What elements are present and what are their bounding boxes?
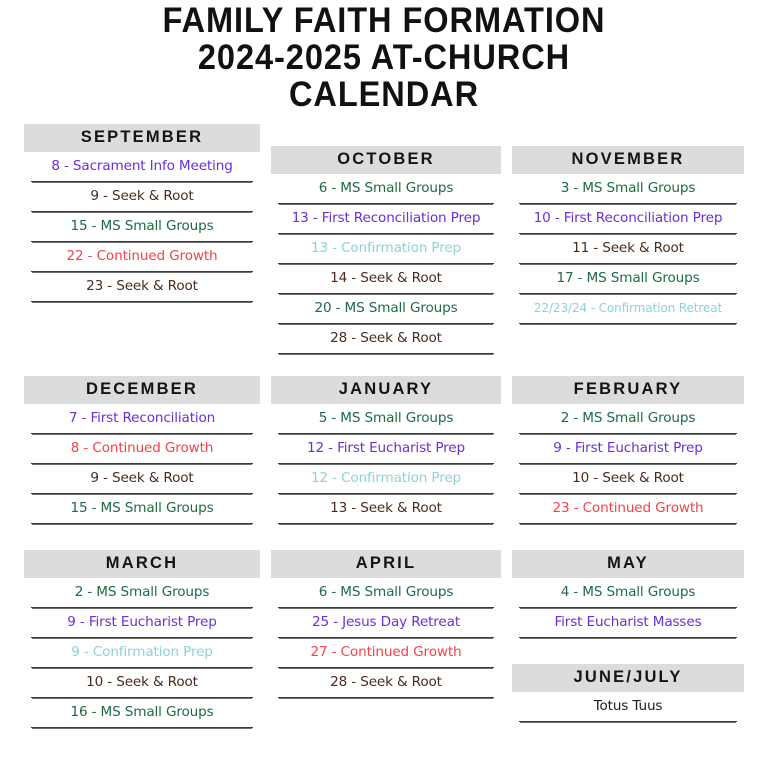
calendar-event: 6 - MS Small Groups	[278, 174, 494, 204]
calendar-event: 12 - Confirmation Prep	[278, 464, 494, 494]
calendar-event: Totus Tuus	[519, 692, 737, 722]
calendar-event: 9 - Confirmation Prep	[31, 638, 253, 668]
month-header-november: NOVEMBER	[512, 146, 744, 174]
calendar-event: 23 - Continued Growth	[519, 494, 737, 524]
calendar-event: 10 - Seek & Root	[31, 668, 253, 698]
month-block-march: MARCH 2 - MS Small Groups9 - First Eucha…	[24, 550, 260, 728]
month-header-october: OCTOBER	[271, 146, 501, 174]
calendar-event: 5 - MS Small Groups	[278, 404, 494, 434]
page-title-line-3: CALENDAR	[27, 76, 741, 113]
calendar-event: 28 - Seek & Root	[278, 324, 494, 354]
month-block-april: APRIL 6 - MS Small Groups25 - Jesus Day …	[271, 550, 501, 698]
month-block-december: DECEMBER 7 - First Reconciliation8 - Con…	[24, 376, 260, 524]
calendar-event: 4 - MS Small Groups	[519, 578, 737, 608]
calendar-event: 13 - Seek & Root	[278, 494, 494, 524]
event-list-september: 8 - Sacrament Info Meeting9 - Seek & Roo…	[24, 152, 260, 302]
calendar-event: 22/23/24 - Confirmation Retreat	[519, 294, 737, 324]
month-block-november: NOVEMBER 3 - MS Small Groups10 - First R…	[512, 146, 744, 324]
event-list-december: 7 - First Reconciliation8 - Continued Gr…	[24, 404, 260, 524]
page-title: FAMILY FAITH FORMATION 2024-2025 AT-CHUR…	[0, 0, 768, 113]
calendar-event: 13 - Confirmation Prep	[278, 234, 494, 264]
month-block-february: FEBRUARY 2 - MS Small Groups9 - First Eu…	[512, 376, 744, 524]
calendar-event: 13 - First Reconciliation Prep	[278, 204, 494, 234]
page-title-line-2: 2024-2025 AT-CHURCH	[27, 39, 741, 76]
event-list-june-july: Totus Tuus	[512, 692, 744, 722]
calendar-event: 2 - MS Small Groups	[31, 578, 253, 608]
calendar-event: 12 - First Eucharist Prep	[278, 434, 494, 464]
month-block-june-july: JUNE/JULY Totus Tuus	[512, 664, 744, 722]
month-block-september: SEPTEMBER 8 - Sacrament Info Meeting9 - …	[24, 124, 260, 302]
calendar-event: 7 - First Reconciliation	[31, 404, 253, 434]
month-header-may: MAY	[512, 550, 744, 578]
event-list-november: 3 - MS Small Groups10 - First Reconcilia…	[512, 174, 744, 324]
calendar-event: 23 - Seek & Root	[31, 272, 253, 302]
calendar-event: 22 - Continued Growth	[31, 242, 253, 272]
calendar-event: 9 - Seek & Root	[31, 182, 253, 212]
event-list-may: 4 - MS Small GroupsFirst Eucharist Masse…	[512, 578, 744, 638]
calendar-event: 10 - First Reconciliation Prep	[519, 204, 737, 234]
calendar-event: 16 - MS Small Groups	[31, 698, 253, 728]
month-header-april: APRIL	[271, 550, 501, 578]
calendar-event: 6 - MS Small Groups	[278, 578, 494, 608]
calendar-event: 9 - Seek & Root	[31, 464, 253, 494]
calendar-event: 10 - Seek & Root	[519, 464, 737, 494]
page-title-line-1: FAMILY FAITH FORMATION	[27, 2, 741, 39]
calendar-event: 2 - MS Small Groups	[519, 404, 737, 434]
month-header-march: MARCH	[24, 550, 260, 578]
calendar-event: 8 - Sacrament Info Meeting	[31, 152, 253, 182]
month-header-june-july: JUNE/JULY	[512, 664, 744, 692]
calendar-event: 11 - Seek & Root	[519, 234, 737, 264]
calendar-event: First Eucharist Masses	[519, 608, 737, 638]
month-block-may: MAY 4 - MS Small GroupsFirst Eucharist M…	[512, 550, 744, 638]
calendar-event: 27 - Continued Growth	[278, 638, 494, 668]
calendar-event: 17 - MS Small Groups	[519, 264, 737, 294]
event-list-april: 6 - MS Small Groups25 - Jesus Day Retrea…	[271, 578, 501, 698]
event-list-february: 2 - MS Small Groups9 - First Eucharist P…	[512, 404, 744, 524]
calendar-event: 25 - Jesus Day Retreat	[278, 608, 494, 638]
calendar-event: 9 - First Eucharist Prep	[31, 608, 253, 638]
calendar-event: 3 - MS Small Groups	[519, 174, 737, 204]
calendar-event: 28 - Seek & Root	[278, 668, 494, 698]
calendar-event: 20 - MS Small Groups	[278, 294, 494, 324]
month-header-february: FEBRUARY	[512, 376, 744, 404]
calendar-event: 15 - MS Small Groups	[31, 212, 253, 242]
month-header-december: DECEMBER	[24, 376, 260, 404]
calendar-event: 15 - MS Small Groups	[31, 494, 253, 524]
calendar-grid: SEPTEMBER 8 - Sacrament Info Meeting9 - …	[0, 124, 768, 728]
month-header-september: SEPTEMBER	[24, 124, 260, 152]
calendar-event: 9 - First Eucharist Prep	[519, 434, 737, 464]
month-header-january: JANUARY	[271, 376, 501, 404]
month-column-may-june: MAY 4 - MS Small GroupsFirst Eucharist M…	[512, 550, 744, 722]
calendar-event: 8 - Continued Growth	[31, 434, 253, 464]
calendar-event: 14 - Seek & Root	[278, 264, 494, 294]
month-block-january: JANUARY 5 - MS Small Groups12 - First Eu…	[271, 376, 501, 524]
event-list-october: 6 - MS Small Groups13 - First Reconcilia…	[271, 174, 501, 354]
event-list-january: 5 - MS Small Groups12 - First Eucharist …	[271, 404, 501, 524]
event-list-march: 2 - MS Small Groups9 - First Eucharist P…	[24, 578, 260, 728]
month-block-october: OCTOBER 6 - MS Small Groups13 - First Re…	[271, 146, 501, 354]
